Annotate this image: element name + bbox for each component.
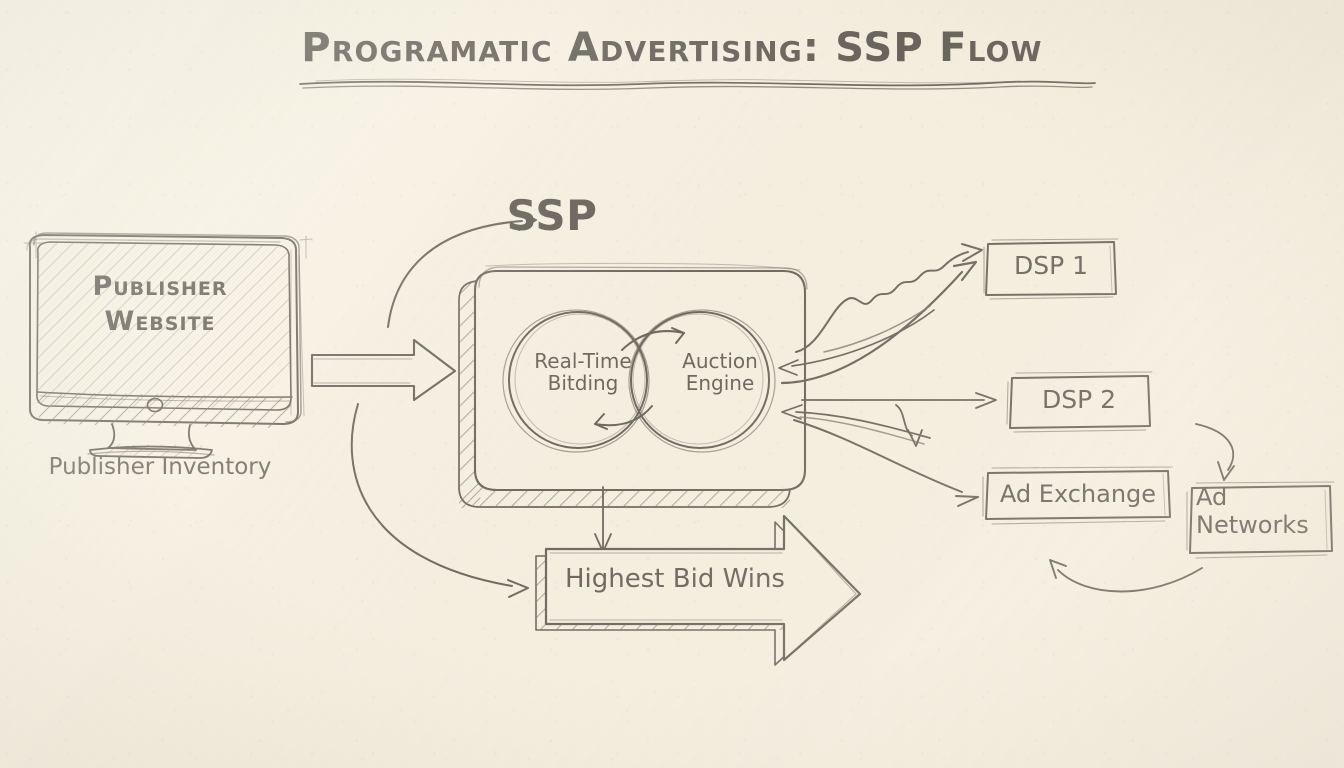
arrow-ssp-to-dsp2	[802, 393, 996, 408]
arrow-ssp-to-dsp1-curved	[782, 262, 976, 383]
diagram-canvas: Programatic Advertising: SSP Flow Publis…	[0, 0, 1344, 768]
arrow-ad-networks-to-ad-exchange	[1050, 560, 1202, 592]
highest-bid-wins-arrow	[520, 516, 860, 665]
arrow-dsp2-to-ad-networks	[1196, 424, 1234, 480]
arrow-ssp-to-highest-bid	[595, 487, 611, 552]
title-underline	[300, 79, 1095, 89]
block-arrow-publisher-to-ssp	[312, 340, 455, 400]
dsp-2-box[interactable]	[1007, 372, 1152, 432]
dsp-1-box[interactable]	[984, 239, 1118, 299]
ad-exchange-box[interactable]	[983, 467, 1172, 524]
sketch-layer	[0, 0, 1344, 768]
arrow-ssp-to-dsp1-squiggly	[796, 244, 982, 352]
ad-networks-box[interactable]	[1187, 482, 1334, 558]
ssp-box	[440, 263, 826, 538]
